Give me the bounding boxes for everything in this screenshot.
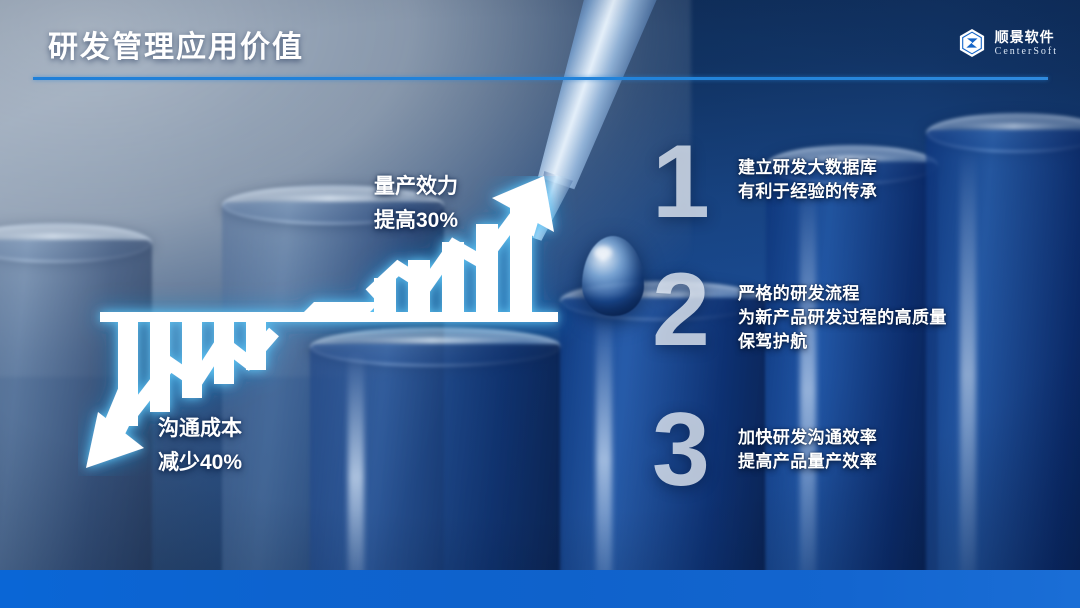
chart-glow-group <box>86 176 558 468</box>
item-description: 加快研发沟通效率 提高产品量产效率 <box>738 426 877 474</box>
callout-line-1: 量产效力 <box>374 170 458 204</box>
list-item-3: 3 加快研发沟通效率 提高产品量产效率 <box>652 408 877 493</box>
callout-line-2: 提高30% <box>374 204 458 238</box>
slide-header: 研发管理应用价值 顺景软件 CenterSoft <box>0 0 1080 82</box>
item-number: 1 <box>652 140 724 225</box>
slide-root: 研发管理应用价值 顺景软件 CenterSoft <box>0 0 1080 608</box>
logo-text-block: 顺景软件 CenterSoft <box>995 30 1058 57</box>
item-number: 2 <box>652 268 724 353</box>
footer-bar <box>0 570 1080 608</box>
logo-name-cn: 顺景软件 <box>995 30 1058 44</box>
hexagon-s-logo-icon <box>957 28 987 58</box>
item-description: 严格的研发流程 为新产品研发过程的高质量 保驾护航 <box>738 282 947 354</box>
item-description: 建立研发大数据库 有利于经验的传承 <box>738 156 877 204</box>
list-item-2: 2 严格的研发流程 为新产品研发过程的高质量 保驾护航 <box>652 268 947 354</box>
callout-line-2: 减少40% <box>158 446 242 480</box>
callout-production-efficiency: 量产效力 提高30% <box>374 170 458 238</box>
callout-communication-cost: 沟通成本 减少40% <box>158 412 242 480</box>
callout-line-1: 沟通成本 <box>158 412 242 446</box>
item-number: 3 <box>652 408 724 493</box>
list-item-1: 1 建立研发大数据库 有利于经验的传承 <box>652 140 877 225</box>
page-title: 研发管理应用价值 <box>48 22 304 66</box>
dual-trend-arrow-chart <box>78 176 578 476</box>
brand-logo: 顺景软件 CenterSoft <box>957 28 1058 58</box>
logo-name-en: CenterSoft <box>995 47 1058 57</box>
title-divider <box>33 77 1048 80</box>
